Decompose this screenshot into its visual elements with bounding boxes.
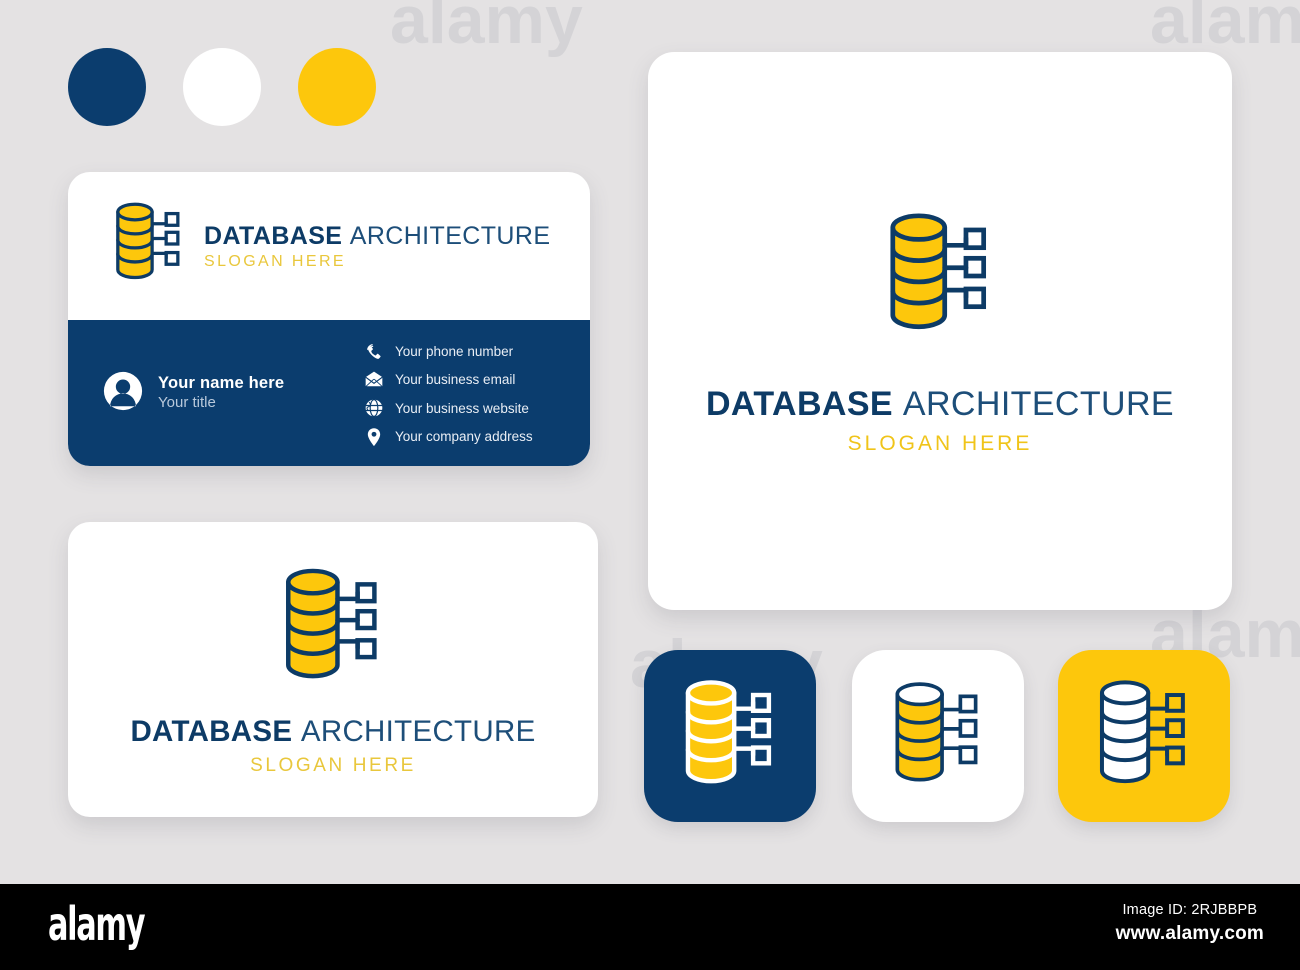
database-stack-icon [110,198,188,295]
contact-list: Your phone number Your business email [364,339,533,447]
brand-title: DATABASE ARCHITECTURE [204,223,550,249]
contact-label-email: Your business email [395,372,515,387]
brand-title-light: ARCHITECTURE [903,385,1174,423]
brand-lockup: DATABASE ARCHITECTURE SLOGAN HERE [204,221,550,271]
business-card[interactable]: DATABASE ARCHITECTURE SLOGAN HERE Your n… [68,172,590,466]
brand-title-bold: DATABASE [130,715,292,748]
avatar-person-icon [102,370,144,417]
globe-icon [364,398,384,418]
contact-row-phone[interactable]: Your phone number [364,341,533,361]
brand-title: DATABASE ARCHITECTURE [130,715,535,749]
watermark-alamy: alamy [390,0,583,54]
image-id-label: Image ID: 2RJBBPB [1116,902,1264,918]
alamy-url: www.alamy.com [1116,923,1264,945]
contact-label-phone: Your phone number [395,344,513,359]
brand-title-bold: DATABASE [204,222,342,250]
business-card-footer: Your name here Your title Your phone n [68,320,590,466]
card-person-block: Your name here Your title [102,370,364,417]
person-name: Your name here [158,373,284,394]
brand-slogan: SLOGAN HERE [250,755,416,777]
phone-icon [364,341,384,361]
email-icon [364,370,384,390]
app-icon-yellow[interactable] [1058,650,1230,822]
white-swatch[interactable] [183,48,261,126]
footer-meta: Image ID: 2RJBBPB www.alamy.com [1116,902,1264,945]
logo-card-horizontal[interactable]: DATABASE ARCHITECTURE SLOGAN HERE [68,522,598,817]
contact-row-address[interactable]: Your company address [364,427,533,447]
brand-slogan: SLOGAN HERE [204,253,550,271]
database-stack-icon [277,562,389,699]
logo-card-square[interactable]: DATABASE ARCHITECTURE SLOGAN HERE [648,52,1232,610]
alamy-logo: alamy [48,901,144,947]
contact-label-website: Your business website [395,401,529,416]
app-icon-navy[interactable] [644,650,816,822]
brand-title-bold: DATABASE [706,385,893,423]
brand-title-light: ARCHITECTURE [301,715,536,748]
color-palette [68,48,376,126]
yellow-swatch[interactable] [298,48,376,126]
navy-swatch[interactable] [68,48,146,126]
page-root: alamy alamy alamy alamy alamy alamy alam… [0,0,1300,970]
brand-title-light: ARCHITECTURE [350,222,551,250]
person-title: Your title [158,394,284,413]
contact-row-email[interactable]: Your business email [364,370,533,390]
brand-slogan: SLOGAN HERE [848,432,1033,456]
business-card-header: DATABASE ARCHITECTURE SLOGAN HERE [68,172,590,320]
footer-bar: alamy Image ID: 2RJBBPB www.alamy.com [0,884,1300,970]
app-icon-white[interactable] [852,650,1024,822]
brand-title: DATABASE ARCHITECTURE [706,385,1174,424]
contact-row-website[interactable]: Your business website [364,398,533,418]
contact-label-address: Your company address [395,429,533,444]
watermark-alamy: alamy [1150,0,1300,54]
location-pin-icon [364,427,384,447]
database-stack-icon [881,206,999,351]
